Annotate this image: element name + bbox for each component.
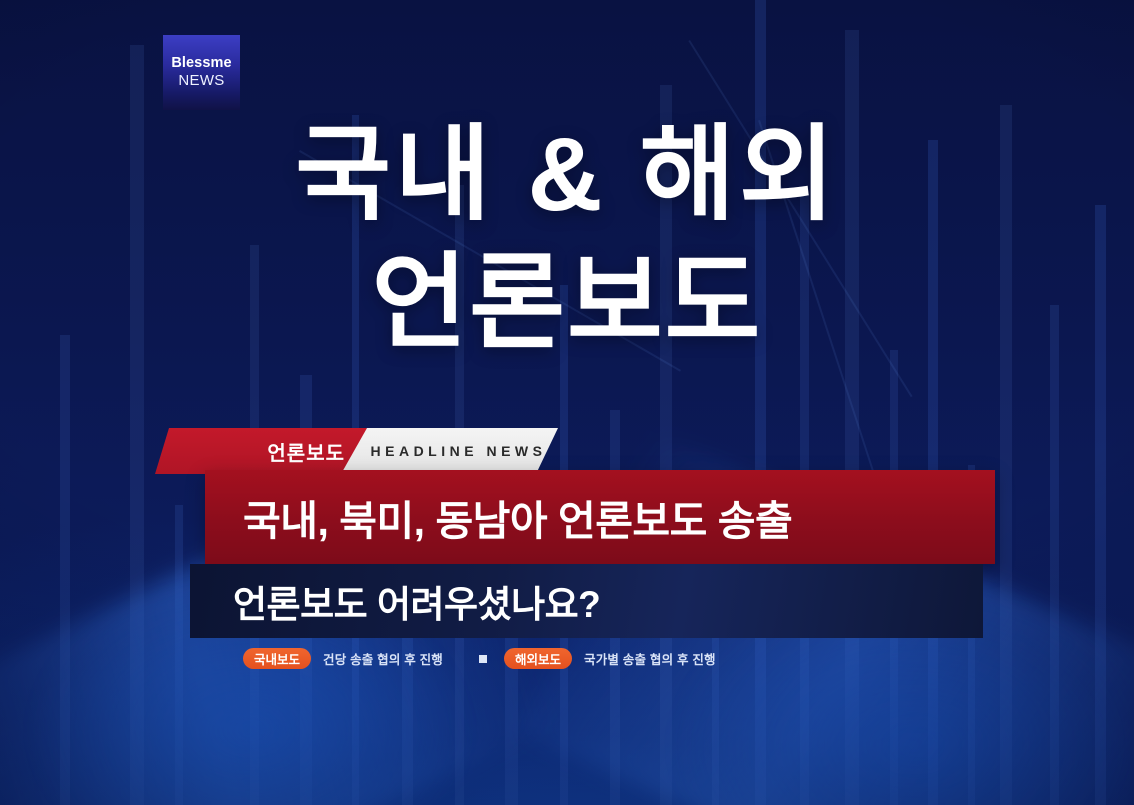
page-title-line-1: 국내 & 해외 [0,122,1134,228]
brand-logo-line-1: Blessme [171,55,231,72]
footnote-text-domestic: 건당 송출 협의 후 진행 [323,649,443,668]
poster-canvas: Blessme NEWS 국내 & 해외 언론보도 언론보도 HEADLINE … [0,0,1134,805]
footnote-text-overseas: 국가별 송출 협의 후 진행 [584,649,716,668]
headline-sub-banner-text: 언론보도 어려우셨나요? [233,574,600,628]
brand-logo-line-2: NEWS [178,72,224,90]
headline-news-ribbon-label: HEADLINE NEWS [371,443,547,459]
footnote-item-overseas: 해외보도 국가별 송출 협의 후 진행 [504,648,716,669]
page-title-line-2: 언론보도 [0,250,1134,356]
headline-ribbon: 언론보도 HEADLINE NEWS [155,428,575,474]
footnote-separator-icon [479,655,487,663]
headline-category-tag-label: 언론보도 [267,437,345,466]
headline-sub-banner: 언론보도 어려우셨나요? [190,564,983,638]
footnote-badge-overseas: 해외보도 [504,648,572,669]
brand-logo: Blessme NEWS [163,35,240,110]
footnote-badge-domestic: 국내보도 [243,648,311,669]
footnote-row: 국내보도 건당 송출 협의 후 진행 해외보도 국가별 송출 협의 후 진행 [243,648,716,669]
headline-main-banner-text: 국내, 북미, 동남아 언론보도 송출 [243,487,792,547]
headline-news-ribbon: HEADLINE NEWS [341,428,558,474]
headline-main-banner: 국내, 북미, 동남아 언론보도 송출 [205,470,995,564]
page-title: 국내 & 해외 언론보도 [0,122,1134,356]
headline-category-tag: 언론보도 [155,428,367,474]
footnote-item-domestic: 국내보도 건당 송출 협의 후 진행 [243,648,443,669]
